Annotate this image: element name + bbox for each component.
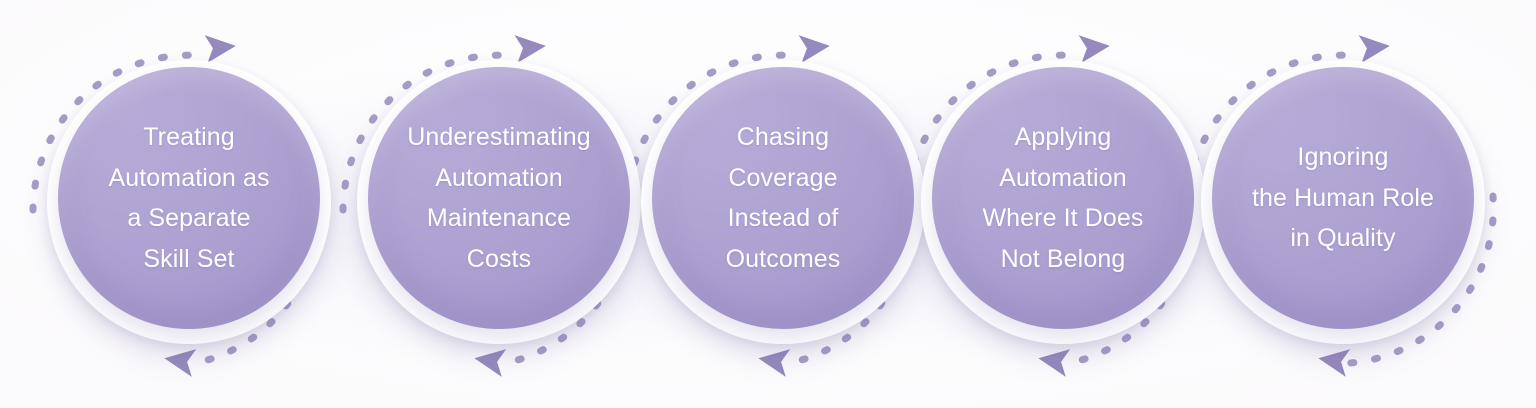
node-label: Chasing Coverage Instead of Outcomes	[716, 117, 851, 279]
node-label: Underestimating Automation Maintenance C…	[397, 117, 601, 279]
cycle-node-2[interactable]: Underestimating Automation Maintenance C…	[368, 67, 630, 329]
node-label: Ignoring the Human Role in Quality	[1242, 137, 1444, 259]
node-disc[interactable]: Underestimating Automation Maintenance C…	[368, 67, 630, 329]
node-disc[interactable]: Treating Automation as a Separate Skill …	[58, 67, 320, 329]
node-disc[interactable]: Chasing Coverage Instead of Outcomes	[652, 67, 914, 329]
cycle-node-5[interactable]: Ignoring the Human Role in Quality	[1212, 67, 1474, 329]
nodes-layer: Treating Automation as a Separate Skill …	[0, 0, 1536, 408]
node-label: Treating Automation as a Separate Skill …	[98, 117, 279, 279]
pitfalls-cycle-diagram: Treating Automation as a Separate Skill …	[0, 0, 1536, 408]
node-disc[interactable]: Applying Automation Where It Does Not Be…	[932, 67, 1194, 329]
cycle-node-3[interactable]: Chasing Coverage Instead of Outcomes	[652, 67, 914, 329]
node-label: Applying Automation Where It Does Not Be…	[972, 117, 1153, 279]
cycle-node-1[interactable]: Treating Automation as a Separate Skill …	[58, 67, 320, 329]
cycle-node-4[interactable]: Applying Automation Where It Does Not Be…	[932, 67, 1194, 329]
node-disc[interactable]: Ignoring the Human Role in Quality	[1212, 67, 1474, 329]
